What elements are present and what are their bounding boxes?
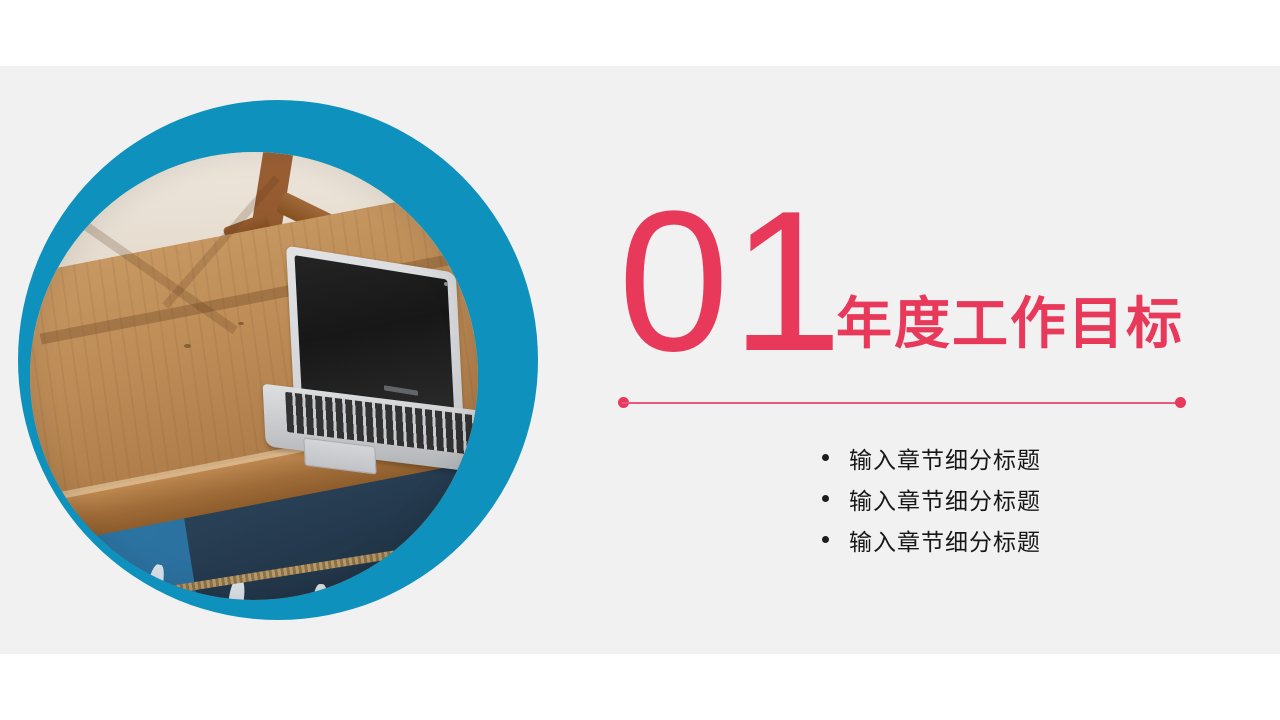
- list-item-label: 输入章节细分标题: [849, 523, 1041, 557]
- divider-dot-right-icon: [1175, 397, 1186, 408]
- list-item[interactable]: 输入章节细分标题: [618, 478, 1198, 519]
- photo-laptop: [264, 260, 478, 510]
- section-number: 01: [618, 182, 844, 382]
- circular-photo-badge: [18, 100, 538, 620]
- list-item[interactable]: 输入章节细分标题: [618, 437, 1198, 478]
- photo-wood-knot: [238, 322, 244, 325]
- page-title: 年度工作目标: [836, 296, 1184, 352]
- photo-laptop-camera: [444, 282, 448, 287]
- list-item-label: 输入章节细分标题: [849, 482, 1041, 516]
- section-heading: 01 年度工作目标: [618, 200, 1198, 375]
- photo-wood-knot: [184, 344, 191, 348]
- section-content: 01 年度工作目标 输入章节细分标题 输入章节细分标题 输入章节细分标题: [618, 200, 1198, 576]
- divider: [618, 397, 1186, 409]
- laptop-on-wooden-table-photo: [30, 152, 478, 600]
- bullet-dot-icon: [822, 536, 829, 543]
- list-item-label: 输入章节细分标题: [849, 441, 1041, 475]
- bullet-list: 输入章节细分标题 输入章节细分标题 输入章节细分标题: [618, 437, 1198, 560]
- bullet-dot-icon: [822, 454, 829, 461]
- list-item[interactable]: 输入章节细分标题: [618, 519, 1198, 560]
- divider-line: [622, 402, 1182, 404]
- photo-disc: [30, 152, 478, 600]
- bullet-dot-icon: [822, 495, 829, 502]
- slide-canvas: 01 年度工作目标 输入章节细分标题 输入章节细分标题 输入章节细分标题: [0, 0, 1280, 720]
